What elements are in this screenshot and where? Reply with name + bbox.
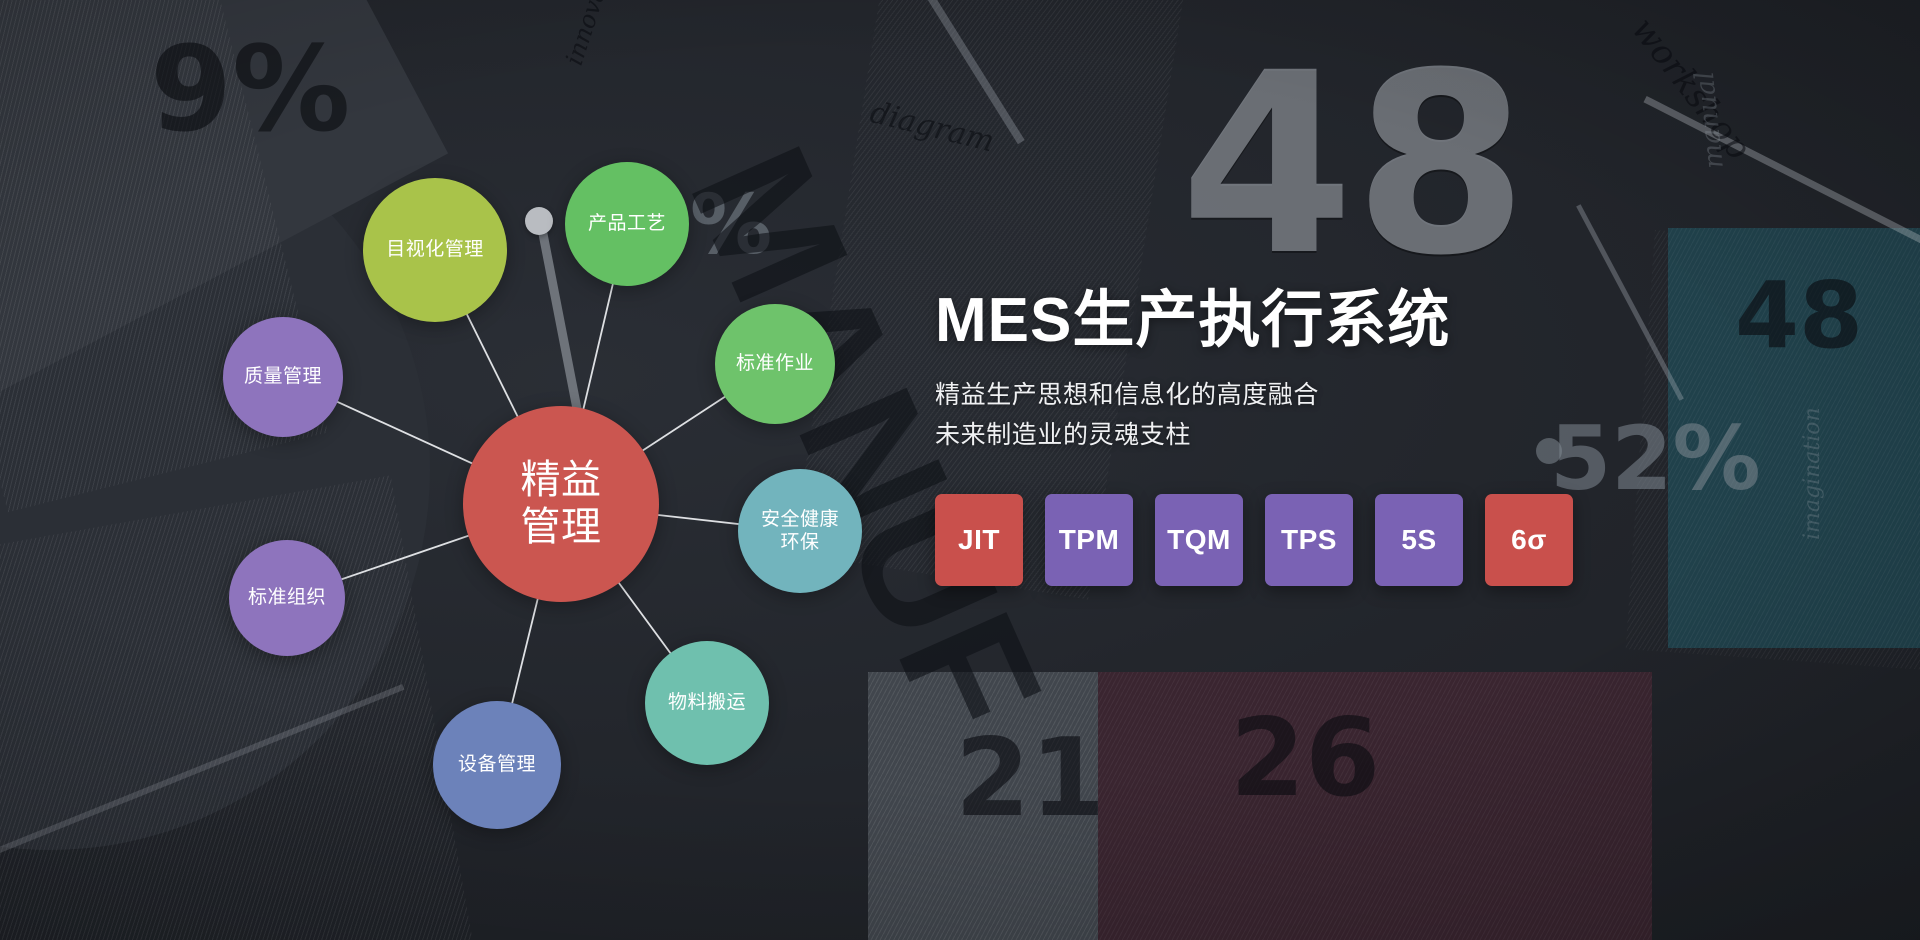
page-title: MES生产执行系统 [935,288,1865,355]
diagram-node-label: 设备管理 [458,753,536,776]
subtitle-line-1: 精益生产思想和信息化的高度融合 [935,375,1865,416]
diagram-node-label: 目视化管理 [386,238,484,261]
tag-6sigma[interactable]: 6σ [1485,494,1573,586]
diagram-node-label: 物料搬运 [668,691,746,714]
methodology-tag-list: JIT TPM TQM TPS 5S 6σ [935,494,1865,586]
pin-head-icon [525,207,553,235]
tag-label: TQM [1167,524,1231,556]
diagram-node-label: 质量管理 [244,365,322,388]
diagram-node-product-process[interactable]: 产品工艺 [565,162,689,286]
banner-stage: 9% 48 % 52% 48 21 26 MANUF diagram works… [0,0,1920,940]
diagram-node-label: 标准组织 [248,586,326,609]
tag-label: 6σ [1511,524,1547,556]
diagram-node-material-handling[interactable]: 物料搬运 [645,641,769,765]
tag-label: TPS [1281,524,1337,556]
diagram-node-standard-work[interactable]: 标准作业 [715,304,835,424]
tag-tpm[interactable]: TPM [1045,494,1133,586]
diagram-node-center-lean-management[interactable]: 精益 管理 [463,406,659,602]
center-label-line2: 管理 [521,504,602,551]
subtitle-line-2: 未来制造业的灵魂支柱 [935,415,1865,456]
diagram-node-standard-organization[interactable]: 标准组织 [229,540,345,656]
tag-5s[interactable]: 5S [1375,494,1463,586]
diagram-node-safety-health-environment[interactable]: 安全健康环保 [738,469,862,593]
tag-tps[interactable]: TPS [1265,494,1353,586]
center-label-line1: 精益 [521,457,602,504]
lean-management-diagram: 目视化管理 产品工艺 标准作业 质量管理 安全健康环保 标准组织 物料搬运 设备… [0,0,960,940]
diagram-node-label: 标准作业 [736,352,814,375]
tag-label: TPM [1059,524,1120,556]
diagram-node-quality-management[interactable]: 质量管理 [223,317,343,437]
diagram-node-equipment-management[interactable]: 设备管理 [433,701,561,829]
tag-label: 5S [1401,524,1436,556]
diagram-node-label: 产品工艺 [588,212,666,235]
tag-label: JIT [958,524,1000,556]
tag-tqm[interactable]: TQM [1155,494,1243,586]
tag-jit[interactable]: JIT [935,494,1023,586]
diagram-node-label: 安全健康环保 [757,508,843,554]
diagram-node-visual-management[interactable]: 目视化管理 [363,178,507,322]
banner-content: MES生产执行系统 精益生产思想和信息化的高度融合 未来制造业的灵魂支柱 JIT… [935,288,1865,586]
